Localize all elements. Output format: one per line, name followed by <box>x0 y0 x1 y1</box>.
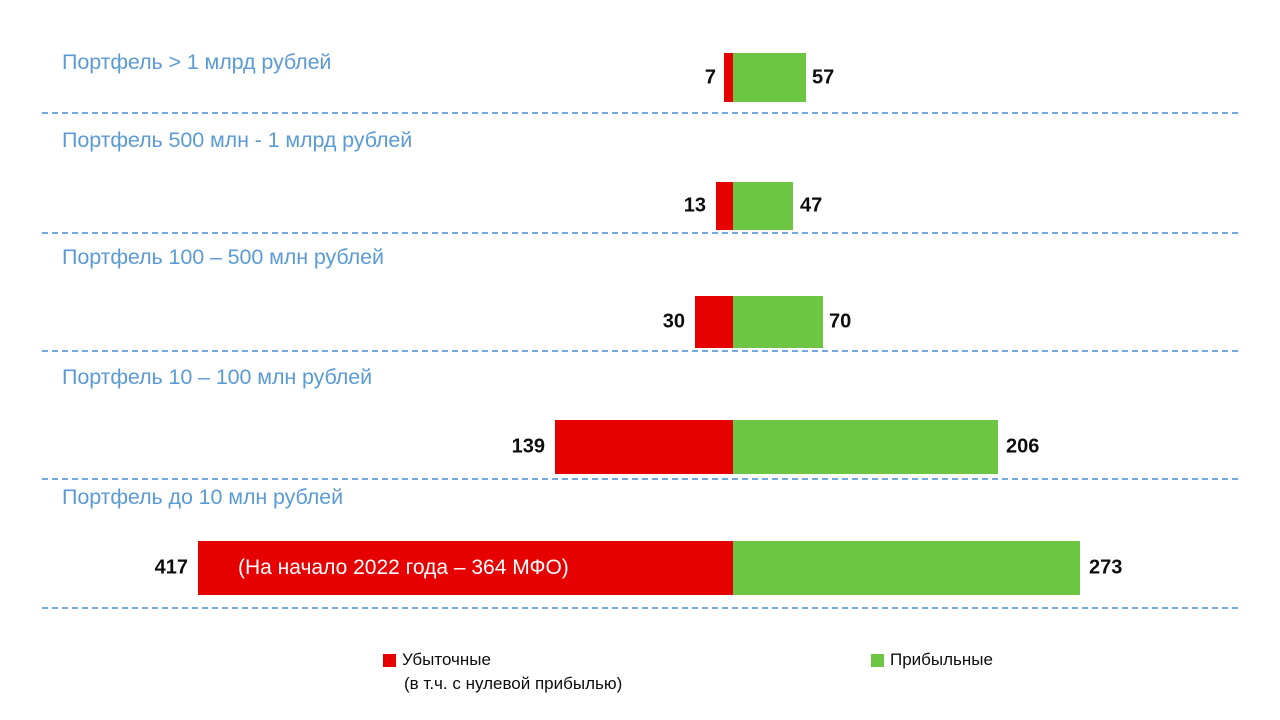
row-divider-1 <box>42 232 1238 234</box>
value-label-profit-3: 206 <box>1006 436 1039 459</box>
bar-segment-profit-1[interactable] <box>733 182 793 230</box>
chart-legend: Убыточные (в т.ч. с нулевой прибылью) Пр… <box>0 644 1280 714</box>
row-divider-3 <box>42 478 1238 480</box>
bar-segment-profit-2[interactable] <box>733 296 823 348</box>
bar-segment-loss-4[interactable]: (На начало 2022 года – 364 МФО) <box>198 541 733 595</box>
diverging-bar-chart: Портфель > 1 млрд рублей 7 57 Портфель 5… <box>0 0 1280 720</box>
bar-segment-loss-0[interactable] <box>724 53 733 102</box>
value-label-loss-4: 417 <box>108 557 188 580</box>
row-divider-0 <box>42 112 1238 114</box>
legend-label-loss: Убыточные <box>402 650 491 670</box>
bar-band-0: 7 57 <box>0 53 1280 102</box>
bar-segment-loss-1[interactable] <box>716 182 733 230</box>
legend-swatch-loss-icon <box>383 654 396 667</box>
bar-segment-loss-3[interactable] <box>555 420 733 474</box>
bar-band-3: 139 206 <box>0 420 1280 474</box>
bar-annotation-note: (На начало 2022 года – 364 МФО) <box>238 556 569 580</box>
bar-segment-profit-4[interactable] <box>733 541 1080 595</box>
category-label-3: Портфель 10 – 100 млн рублей <box>62 365 372 390</box>
value-label-loss-2: 30 <box>617 311 685 334</box>
row-divider-4 <box>42 607 1238 609</box>
bar-segment-profit-0[interactable] <box>733 53 806 102</box>
bar-band-1: 13 47 <box>0 182 1280 230</box>
bar-segment-profit-3[interactable] <box>733 420 998 474</box>
value-label-profit-0: 57 <box>812 66 834 89</box>
value-label-loss-0: 7 <box>654 66 716 89</box>
legend-label-profit: Прибыльные <box>890 650 993 670</box>
category-label-2: Портфель 100 – 500 млн рублей <box>62 245 384 270</box>
value-label-profit-4: 273 <box>1089 557 1122 580</box>
category-label-4: Портфель до 10 млн рублей <box>62 485 343 510</box>
bar-segment-loss-2[interactable] <box>695 296 733 348</box>
value-label-loss-1: 13 <box>640 195 706 218</box>
bar-band-2: 30 70 <box>0 296 1280 348</box>
value-label-profit-1: 47 <box>800 195 822 218</box>
value-label-loss-3: 139 <box>466 436 545 459</box>
value-label-profit-2: 70 <box>829 311 851 334</box>
legend-sublabel-loss: (в т.ч. с нулевой прибылью) <box>404 674 622 694</box>
category-label-1: Портфель 500 млн - 1 млрд рублей <box>62 128 412 153</box>
row-divider-2 <box>42 350 1238 352</box>
bar-band-4: (На начало 2022 года – 364 МФО) 417 273 <box>0 541 1280 595</box>
legend-swatch-profit-icon <box>871 654 884 667</box>
